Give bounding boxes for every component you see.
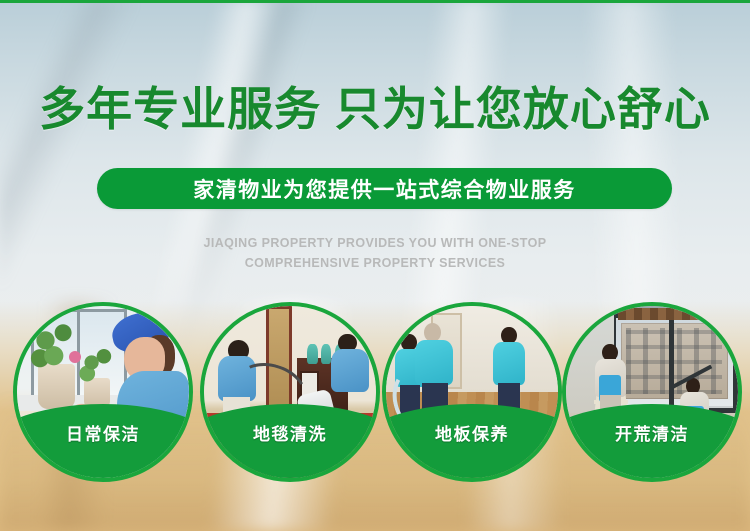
- english-subcaption-line1: JIAQING PROPERTY PROVIDES YOU WITH ONE-S…: [0, 233, 750, 253]
- subtitle-pill-label: 家清物业为您提供一站式综合物业服务: [193, 174, 576, 204]
- service-caption-band: 开荒清洁: [562, 404, 742, 482]
- service-circle-daily-cleaning[interactable]: 日常保洁: [13, 302, 193, 482]
- english-subcaption: JIAQING PROPERTY PROVIDES YOU WITH ONE-S…: [0, 233, 750, 273]
- service-circle-row: 日常保洁 地毯清洗: [0, 302, 750, 484]
- english-subcaption-line2: COMPREHENSIVE PROPERTY SERVICES: [0, 253, 750, 273]
- service-caption-band: 地板保养: [382, 404, 562, 482]
- service-circle-floor-maintenance[interactable]: 地板保养: [382, 302, 562, 482]
- promo-banner: 多年专业服务 只为让您放心舒心 家清物业为您提供一站式综合物业服务 JIAQIN…: [0, 0, 750, 531]
- service-circle-carpet-cleaning[interactable]: 地毯清洗: [200, 302, 380, 482]
- service-label-carpet-cleaning: 地毯清洗: [253, 420, 327, 445]
- service-circle-post-construction-cleaning[interactable]: 开荒清洁: [562, 302, 742, 482]
- service-label-floor-maintenance: 地板保养: [435, 420, 509, 445]
- service-caption-band: 地毯清洗: [200, 404, 380, 482]
- service-label-post-construction-cleaning: 开荒清洁: [615, 420, 689, 445]
- service-label-daily-cleaning: 日常保洁: [66, 420, 140, 445]
- service-caption-band: 日常保洁: [13, 404, 193, 482]
- page-headline: 多年专业服务 只为让您放心舒心: [0, 84, 750, 134]
- top-green-rule: [0, 0, 750, 3]
- subtitle-pill: 家清物业为您提供一站式综合物业服务: [97, 168, 672, 209]
